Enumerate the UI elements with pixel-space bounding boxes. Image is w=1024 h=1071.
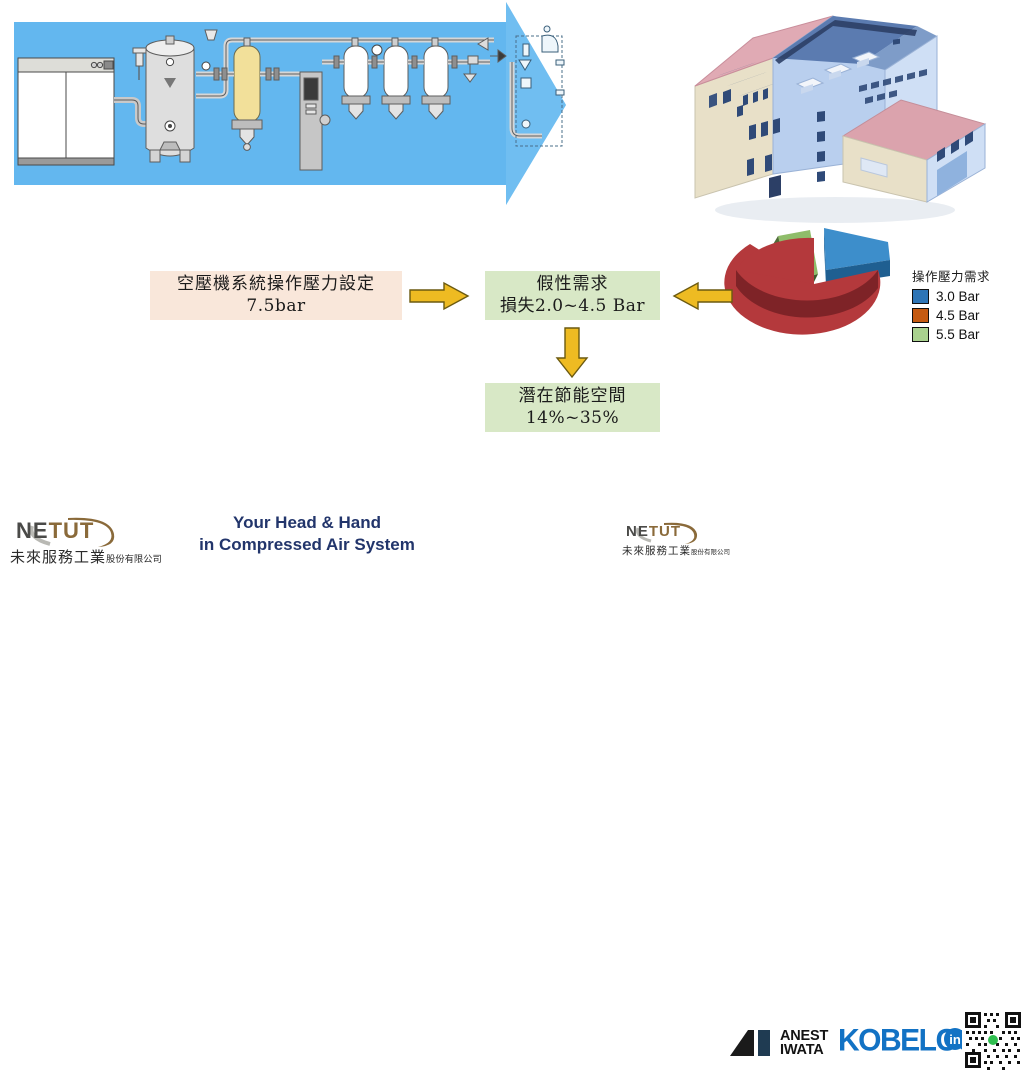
pie-chart-legend: 操作壓力需求 3.0 Bar 4.5 Bar 5.5 Bar — [912, 266, 1024, 346]
nextut-chinese-main-right: 未來服務工業 — [622, 545, 691, 557]
false-demand-box: 假性需求 損失2.0~4.5 Bar — [485, 271, 660, 320]
nextut-tut-left: TUT — [49, 518, 95, 543]
false-demand-line2: 損失2.0~4.5 Bar — [500, 296, 645, 318]
nextut-tut-right: TUT — [649, 523, 681, 540]
anest-iwata-mark-icon — [728, 1028, 774, 1058]
anest-iwata-logo: ANEST IWATA — [728, 1026, 828, 1060]
legend-swatch-4-5-bar — [912, 308, 929, 323]
nextut-ne-left: NE — [16, 518, 49, 543]
legend-swatch-5-5-bar — [912, 327, 929, 342]
legend-label-3-0-bar: 3.0 Bar — [936, 289, 980, 304]
anest-iwata-wordmark: ANEST IWATA — [780, 1029, 828, 1057]
legend-swatch-3-0-bar — [912, 289, 929, 304]
nextut-logo-right: NETUT 未來服務工業股份有限公司 — [622, 520, 730, 558]
nextut-chinese-right: 未來服務工業股份有限公司 — [622, 543, 730, 558]
potential-saving-line1: 潛在節能空間 — [519, 386, 627, 408]
false-demand-line1: 假性需求 — [537, 274, 609, 296]
legend-title: 操作壓力需求 — [912, 266, 1024, 285]
arrow-down-icon — [555, 326, 589, 380]
air-receiver-tank — [146, 36, 194, 162]
nextut-chinese-left: 未來服務工業股份有限公司 — [10, 546, 162, 567]
arrow-left-icon — [672, 281, 734, 311]
legend-item-4-5-bar: 4.5 Bar — [912, 308, 1024, 323]
pressure-setting-line1: 空壓機系統操作壓力設定 — [177, 274, 375, 296]
potential-saving-line2: 14%~35% — [526, 408, 619, 430]
filter-gauge — [372, 45, 382, 55]
nextut-chinese-sub-right: 股份有限公司 — [691, 548, 730, 556]
pressure-setting-line2: 7.5bar — [246, 296, 305, 318]
arrow-head-highlight — [506, 2, 566, 205]
arrow-right-icon — [408, 281, 470, 311]
qr-code[interactable] — [962, 1009, 1024, 1071]
tagline: Your Head & Hand in Compressed Air Syste… — [178, 512, 436, 556]
potential-saving-box: 潛在節能空間 14%~35% — [485, 383, 660, 432]
schematic-svg — [0, 0, 600, 210]
anest-text: ANEST — [780, 1029, 828, 1043]
legend-label-5-5-bar: 5.5 Bar — [936, 327, 980, 342]
compressed-air-system-diagram — [0, 0, 600, 210]
legend-item-3-0-bar: 3.0 Bar — [912, 289, 1024, 304]
tagline-line2: in Compressed Air System — [178, 534, 436, 556]
air-compressor — [18, 58, 114, 165]
nextut-logo-left: NETUT 未來服務工業股份有限公司 — [10, 514, 162, 567]
nextut-chinese-sub-left: 股份有限公司 — [106, 554, 162, 565]
svg-text:in: in — [949, 1032, 961, 1047]
tagline-line1: Your Head & Hand — [178, 512, 436, 534]
legend-item-5-5-bar: 5.5 Bar — [912, 327, 1024, 342]
iwata-text: IWATA — [780, 1043, 828, 1057]
operating-pressure-pie-chart — [718, 212, 918, 367]
factory-building-illustration — [665, 2, 995, 227]
pressure-setting-box: 空壓機系統操作壓力設定 7.5bar — [150, 271, 402, 320]
slide-footer: NETUT 未來服務工業股份有限公司 Your Head & Hand in C… — [0, 500, 1024, 577]
nextut-ne-right: NE — [626, 523, 649, 540]
legend-label-4-5-bar: 4.5 Bar — [936, 308, 980, 323]
pressure-gauge — [202, 62, 210, 70]
nextut-chinese-main-left: 未來服務工業 — [10, 548, 106, 566]
